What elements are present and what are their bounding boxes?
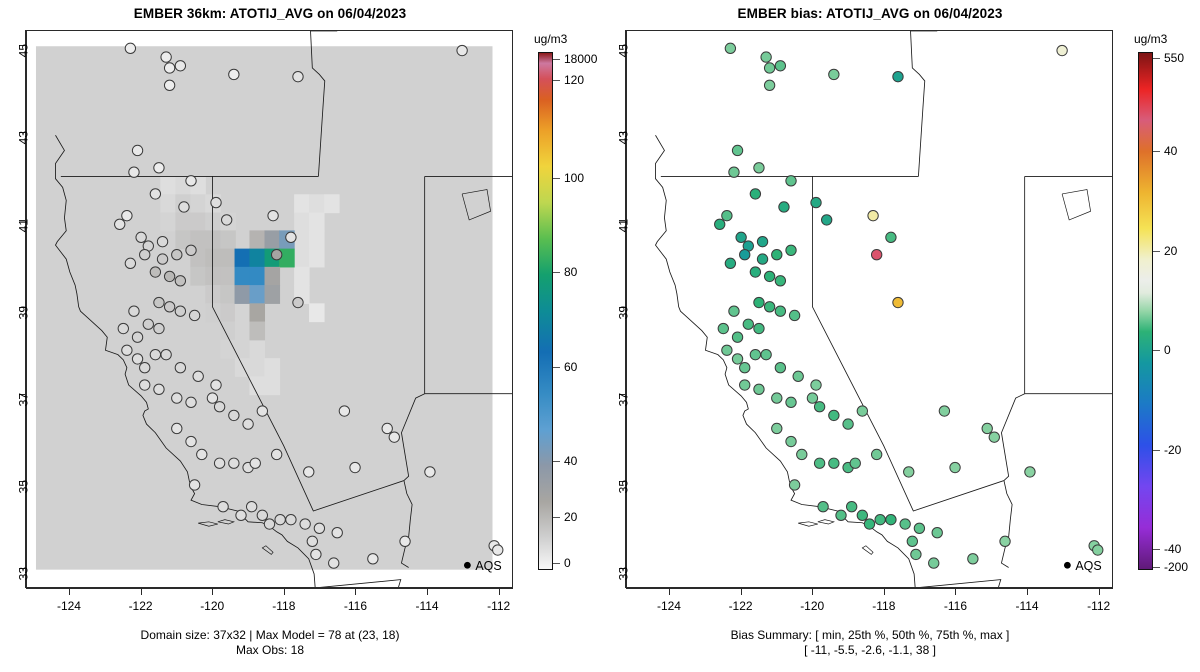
aqs-station-marker [761, 52, 771, 62]
colorbar-tick-label: 40 [564, 454, 577, 468]
aqs-station-marker [172, 423, 182, 433]
colorbar-tick-mark [553, 563, 560, 564]
aqs-station-marker [1025, 467, 1035, 477]
colorbar-tick-label: 20 [564, 510, 577, 524]
colorbar-tick-mark [553, 461, 560, 462]
aqs-station-marker [218, 502, 228, 512]
colorbar-tick-label: 20 [1164, 244, 1177, 258]
aqs-station-marker [754, 384, 764, 394]
aqs-station-marker [132, 145, 142, 155]
colorbar-tick-mark [1153, 151, 1160, 152]
aqs-station-marker [271, 449, 281, 459]
aqs-station-marker [122, 345, 132, 355]
aqs-legend-label: AQS [1075, 559, 1101, 573]
aqs-station-marker [246, 502, 256, 512]
aqs-station-marker [257, 510, 267, 520]
aqs-station-marker [132, 354, 142, 364]
aqs-station-marker [140, 380, 150, 390]
aqs-station-marker [786, 397, 796, 407]
x-axis-tick [884, 588, 885, 595]
aqs-station-marker [172, 393, 182, 403]
aqs-station-marker [775, 363, 785, 373]
aqs-station-marker [286, 514, 296, 524]
aqs-station-marker [300, 519, 310, 529]
aqs-station-marker [175, 306, 185, 316]
aqs-station-marker [140, 250, 150, 260]
map-boundary-line [862, 546, 873, 555]
x-axis-tick-label: -112 [487, 599, 510, 613]
map-boundary-line [1001, 394, 1024, 481]
panel-model-plot-area: AQS [26, 30, 513, 588]
x-axis-spine [626, 588, 1113, 589]
model-grid-cell [235, 267, 251, 286]
x-axis-tick-label: -114 [1015, 599, 1038, 613]
figure-canvas: EMBER 36km: ATOTIJ_AVG on 06/04/2023 AQS… [0, 0, 1200, 672]
model-grid-cell [249, 285, 265, 304]
aqs-station-marker [775, 276, 785, 286]
model-grid-cell [294, 267, 310, 286]
aqs-station-marker [740, 363, 750, 373]
aqs-station-marker [779, 202, 789, 212]
model-grid-cell [190, 194, 206, 213]
y-axis-tick-label: 33 [16, 567, 30, 580]
aqs-station-marker [761, 349, 771, 359]
aqs-station-marker [304, 467, 314, 477]
map-boundary-line [818, 520, 834, 524]
model-grid-cell [249, 376, 265, 395]
aqs-station-marker [857, 406, 867, 416]
colorbar-tick-label: 60 [564, 360, 577, 374]
panel-bias: EMBER bias: ATOTIJ_AVG on 06/04/2023 AQS… [600, 0, 1200, 672]
aqs-station-marker [175, 61, 185, 71]
aqs-station-marker [221, 215, 231, 225]
aqs-station-marker [864, 519, 874, 529]
x-axis-tick [669, 588, 670, 595]
aqs-legend-dot [1064, 562, 1071, 569]
y-axis-tick-label: 43 [16, 131, 30, 144]
aqs-station-marker [229, 410, 239, 420]
y-axis-tick-label: 39 [616, 306, 630, 319]
map-boundary-line [315, 580, 401, 587]
aqs-station-marker [368, 554, 378, 564]
aqs-station-marker [764, 80, 774, 90]
aqs-station-marker [829, 458, 839, 468]
aqs-station-marker [818, 502, 828, 512]
aqs-station-marker [904, 467, 914, 477]
aqs-station-marker [118, 323, 128, 333]
map-boundary-line [915, 580, 1001, 587]
aqs-station-marker [214, 458, 224, 468]
model-grid-cell [265, 376, 281, 395]
colorbar-tick-mark [553, 59, 560, 60]
colorbar-gradient [538, 52, 553, 570]
aqs-station-marker [740, 380, 750, 390]
y-axis-tick-label: 45 [16, 44, 30, 57]
model-grid-cell [324, 194, 340, 213]
y-axis-tick-label: 35 [616, 480, 630, 493]
model-grid-cell [265, 230, 281, 249]
x-axis-tick [1027, 588, 1028, 595]
aqs-station-marker [722, 210, 732, 220]
x-axis-tick [427, 588, 428, 595]
aqs-station-marker [186, 397, 196, 407]
aqs-station-marker [250, 458, 260, 468]
aqs-station-marker [329, 558, 339, 568]
aqs-station-marker [893, 297, 903, 307]
y-axis-tick-label: 41 [616, 219, 630, 232]
colorbar-tick-mark [1153, 549, 1160, 550]
aqs-station-marker [186, 245, 196, 255]
model-grid-cell [265, 267, 281, 286]
x-axis-tick-label: -122 [729, 599, 753, 613]
aqs-station-marker [122, 210, 132, 220]
aqs-station-marker [389, 432, 399, 442]
aqs-station-marker [729, 167, 739, 177]
aqs-station-marker [754, 163, 764, 173]
aqs-station-marker [457, 45, 467, 55]
aqs-station-marker [350, 462, 360, 472]
aqs-station-marker [900, 519, 910, 529]
aqs-station-marker [236, 510, 246, 520]
aqs-station-marker [193, 371, 203, 381]
panel-bias-title: EMBER bias: ATOTIJ_AVG on 06/04/2023 [600, 6, 1140, 21]
model-grid-cell [249, 303, 265, 322]
aqs-station-marker [307, 536, 317, 546]
aqs-station-marker [797, 449, 807, 459]
model-grid-cell [249, 267, 265, 286]
aqs-station-marker [157, 236, 167, 246]
aqs-station-marker [836, 510, 846, 520]
panel-bias-plot-area: AQS [626, 30, 1113, 588]
panel-model-title: EMBER 36km: ATOTIJ_AVG on 06/04/2023 [0, 6, 540, 21]
aqs-station-marker [989, 432, 999, 442]
aqs-station-marker [786, 176, 796, 186]
aqs-station-marker [214, 402, 224, 412]
model-grid-cell [249, 322, 265, 341]
model-grid-cell [205, 230, 221, 249]
model-grid-cell [294, 249, 310, 268]
aqs-station-marker [793, 371, 803, 381]
model-grid-cell [205, 249, 221, 268]
aqs-station-marker [143, 319, 153, 329]
aqs-station-marker [732, 332, 742, 342]
model-grid-cell [249, 230, 265, 249]
model-grid-cell [220, 267, 236, 286]
aqs-station-marker [850, 458, 860, 468]
model-grid-cell [220, 340, 236, 359]
model-grid-cell [235, 322, 251, 341]
map-boundary-line [1001, 481, 1012, 568]
footer-line-2: Max Obs: 18 [0, 643, 540, 658]
aqs-station-marker [311, 549, 321, 559]
aqs-station-marker [725, 258, 735, 268]
colorbar-tick-mark [553, 517, 560, 518]
aqs-station-marker [179, 202, 189, 212]
map-boundary-line [911, 31, 925, 176]
aqs-station-marker [982, 423, 992, 433]
x-axis-tick-label: -124 [657, 599, 681, 613]
model-grid-cell [265, 285, 281, 304]
aqs-station-marker [229, 458, 239, 468]
aqs-station-marker [722, 345, 732, 355]
model-grid-cell [220, 230, 236, 249]
x-axis-tick [212, 588, 213, 595]
y-axis-tick-label: 37 [16, 393, 30, 406]
model-grid-cell [235, 358, 251, 377]
model-grid-cell [265, 358, 281, 377]
aqs-station-marker [886, 232, 896, 242]
aqs-station-marker [775, 61, 785, 71]
aqs-station-marker [886, 514, 896, 524]
aqs-station-marker [786, 245, 796, 255]
x-axis-tick-label: -122 [129, 599, 153, 613]
model-grid-cell [205, 285, 221, 304]
aqs-station-marker [736, 232, 746, 242]
colorbar-tick-mark [553, 178, 560, 179]
aqs-station-marker [136, 232, 146, 242]
aqs-station-marker [821, 215, 831, 225]
model-grid-cell [160, 176, 176, 195]
aqs-station-marker [807, 393, 817, 403]
x-axis-spine [26, 588, 513, 589]
aqs-station-marker [175, 276, 185, 286]
y-axis-tick-label: 33 [616, 567, 630, 580]
aqs-station-marker [725, 43, 735, 53]
aqs-station-marker [939, 406, 949, 416]
panel-bias-colorbar: ug/m3 55040200-20-40-200 [1138, 52, 1200, 572]
aqs-station-marker [140, 363, 150, 373]
aqs-station-marker [846, 502, 856, 512]
bias-map-svg: AQS [627, 31, 1112, 587]
x-axis-tick-label: -116 [944, 599, 967, 613]
x-axis-tick-label: -120 [200, 599, 224, 613]
aqs-station-marker [164, 271, 174, 281]
colorbar-tick-mark [553, 367, 560, 368]
model-grid-cell [220, 303, 236, 322]
colorbar-tick-label: -40 [1164, 542, 1181, 556]
model-grid-cell [235, 285, 251, 304]
aqs-station-marker [843, 419, 853, 429]
panel-model: EMBER 36km: ATOTIJ_AVG on 06/04/2023 AQS… [0, 0, 600, 672]
aqs-station-marker [811, 380, 821, 390]
y-axis-tick-label: 39 [16, 306, 30, 319]
colorbar-tick-label: 80 [564, 265, 577, 279]
model-grid-cell [235, 249, 251, 268]
map-boundary-line [812, 176, 1004, 510]
model-grid-cell [294, 194, 310, 213]
aqs-station-marker [750, 189, 760, 199]
aqs-station-marker [757, 236, 767, 246]
aqs-station-marker [400, 536, 410, 546]
x-axis-tick-label: -114 [415, 599, 438, 613]
aqs-station-marker [814, 458, 824, 468]
aqs-station-marker [750, 349, 760, 359]
colorbar-tick-label: 40 [1164, 144, 1177, 158]
colorbar-tick-label: 550 [1164, 51, 1184, 65]
aqs-station-marker [789, 310, 799, 320]
panel-model-x-axis: -124-122-120-118-116-114-112 [26, 588, 513, 622]
aqs-station-marker [932, 528, 942, 538]
x-axis-tick [741, 588, 742, 595]
aqs-station-marker [186, 436, 196, 446]
colorbar-tick-mark [1153, 58, 1160, 59]
model-grid-cell [249, 249, 265, 268]
aqs-station-marker [275, 514, 285, 524]
aqs-station-marker [211, 197, 221, 207]
y-axis-tick-label: 37 [616, 393, 630, 406]
model-grid-cell [220, 249, 236, 268]
aqs-station-marker [264, 519, 274, 529]
aqs-station-marker [871, 449, 881, 459]
aqs-station-marker [382, 423, 392, 433]
colorbar-tick-label: 0 [564, 556, 571, 570]
colorbar-tick-label: 120 [564, 73, 584, 87]
aqs-station-marker [907, 536, 917, 546]
panel-model-y-axis: 33353739414345 [0, 30, 26, 588]
aqs-station-marker [154, 163, 164, 173]
aqs-station-marker [425, 467, 435, 477]
model-grid-cell [175, 213, 191, 232]
aqs-station-marker [871, 250, 881, 260]
colorbar-unit-label: ug/m3 [1134, 32, 1167, 46]
aqs-station-marker [740, 250, 750, 260]
model-grid-cell [279, 249, 295, 268]
model-grid-cell [309, 213, 325, 232]
aqs-station-marker [132, 332, 142, 342]
aqs-station-marker [150, 349, 160, 359]
aqs-station-marker [893, 71, 903, 81]
panel-model-footer: Domain size: 37x32 | Max Model = 78 at (… [0, 628, 540, 658]
x-axis-tick [812, 588, 813, 595]
aqs-station-marker [775, 306, 785, 316]
y-axis-tick-label: 41 [16, 219, 30, 232]
model-grid-cell [309, 303, 325, 322]
aqs-station-marker [161, 349, 171, 359]
aqs-station-marker [129, 167, 139, 177]
aqs-station-marker [929, 558, 939, 568]
aqs-station-marker [772, 423, 782, 433]
colorbar-tick-mark [1153, 450, 1160, 451]
aqs-station-marker [129, 306, 139, 316]
aqs-station-marker [211, 380, 221, 390]
aqs-station-marker [715, 219, 725, 229]
colorbar-unit-label: ug/m3 [534, 32, 567, 46]
x-axis-tick-label: -120 [800, 599, 824, 613]
colorbar-tick-mark [1153, 251, 1160, 252]
aqs-station-marker [857, 510, 867, 520]
aqs-station-marker [764, 302, 774, 312]
aqs-station-marker [154, 297, 164, 307]
aqs-station-marker [914, 523, 924, 533]
map-boundary-line [1062, 190, 1090, 220]
aqs-station-marker [1057, 45, 1067, 55]
aqs-station-marker [729, 306, 739, 316]
colorbar-tick-label: -20 [1164, 443, 1181, 457]
aqs-station-marker [754, 297, 764, 307]
model-map-svg: AQS [27, 31, 512, 587]
aqs-station-marker [339, 406, 349, 416]
model-grid-cell [205, 267, 221, 286]
map-boundary-line [798, 522, 818, 526]
y-axis-tick-label: 35 [16, 480, 30, 493]
aqs-station-marker [164, 302, 174, 312]
aqs-station-marker [268, 210, 278, 220]
aqs-station-marker [732, 354, 742, 364]
aqs-station-marker [875, 514, 885, 524]
aqs-station-marker [950, 462, 960, 472]
aqs-station-marker [207, 393, 217, 403]
aqs-station-marker [789, 480, 799, 490]
x-axis-tick [284, 588, 285, 595]
colorbar-tick-label: 18000 [564, 52, 597, 66]
aqs-station-marker [186, 176, 196, 186]
x-axis-tick-label: -116 [344, 599, 367, 613]
colorbar-gradient [1138, 52, 1153, 570]
aqs-station-marker [732, 145, 742, 155]
aqs-station-marker [271, 250, 281, 260]
aqs-station-marker [157, 254, 167, 264]
aqs-station-marker [772, 393, 782, 403]
x-axis-tick-label: -118 [872, 599, 895, 613]
aqs-station-marker [243, 419, 253, 429]
aqs-station-marker [293, 297, 303, 307]
colorbar-tick-mark [553, 80, 560, 81]
aqs-station-marker [718, 323, 728, 333]
aqs-station-marker [968, 554, 978, 564]
panel-bias-y-axis: 33353739414345 [600, 30, 626, 588]
aqs-station-marker [125, 258, 135, 268]
aqs-station-marker [154, 384, 164, 394]
aqs-station-marker [829, 410, 839, 420]
x-axis-tick-label: -124 [57, 599, 81, 613]
model-grid-cell [190, 267, 206, 286]
x-axis-tick [1099, 588, 1100, 595]
x-axis-tick-label: -118 [272, 599, 295, 613]
panel-bias-footer: Bias Summary: [ min, 25th %, 50th %, 75t… [600, 628, 1140, 658]
aqs-station-marker [189, 310, 199, 320]
aqs-station-marker [829, 69, 839, 79]
aqs-station-marker [164, 63, 174, 73]
x-axis-tick [955, 588, 956, 595]
footer-line-2: [ -11, -5.5, -2.6, -1.1, 38 ] [600, 643, 1140, 658]
aqs-station-marker [772, 250, 782, 260]
aqs-station-marker [175, 363, 185, 373]
x-axis-tick [355, 588, 356, 595]
aqs-station-marker [189, 480, 199, 490]
x-axis-tick [141, 588, 142, 595]
aqs-station-marker [1000, 536, 1010, 546]
colorbar-tick-mark [1153, 350, 1160, 351]
model-grid-cell [220, 285, 236, 304]
model-grid-cell [160, 213, 176, 232]
model-grid-cell [309, 194, 325, 213]
aqs-station-marker [1093, 545, 1103, 555]
model-grid-cell [309, 230, 325, 249]
aqs-station-marker [197, 449, 207, 459]
model-grid-cell [160, 194, 176, 213]
footer-line-1: Bias Summary: [ min, 25th %, 50th %, 75t… [600, 628, 1140, 643]
model-grid-cell [249, 340, 265, 359]
aqs-station-marker [868, 210, 878, 220]
aqs-station-marker [750, 267, 760, 277]
colorbar-tick-label: 0 [1164, 343, 1171, 357]
aqs-station-marker [743, 319, 753, 329]
aqs-station-marker [757, 254, 767, 264]
footer-line-1: Domain size: 37x32 | Max Model = 78 at (… [0, 628, 540, 643]
aqs-station-marker [229, 69, 239, 79]
aqs-station-marker [286, 232, 296, 242]
model-grid-cell [235, 303, 251, 322]
